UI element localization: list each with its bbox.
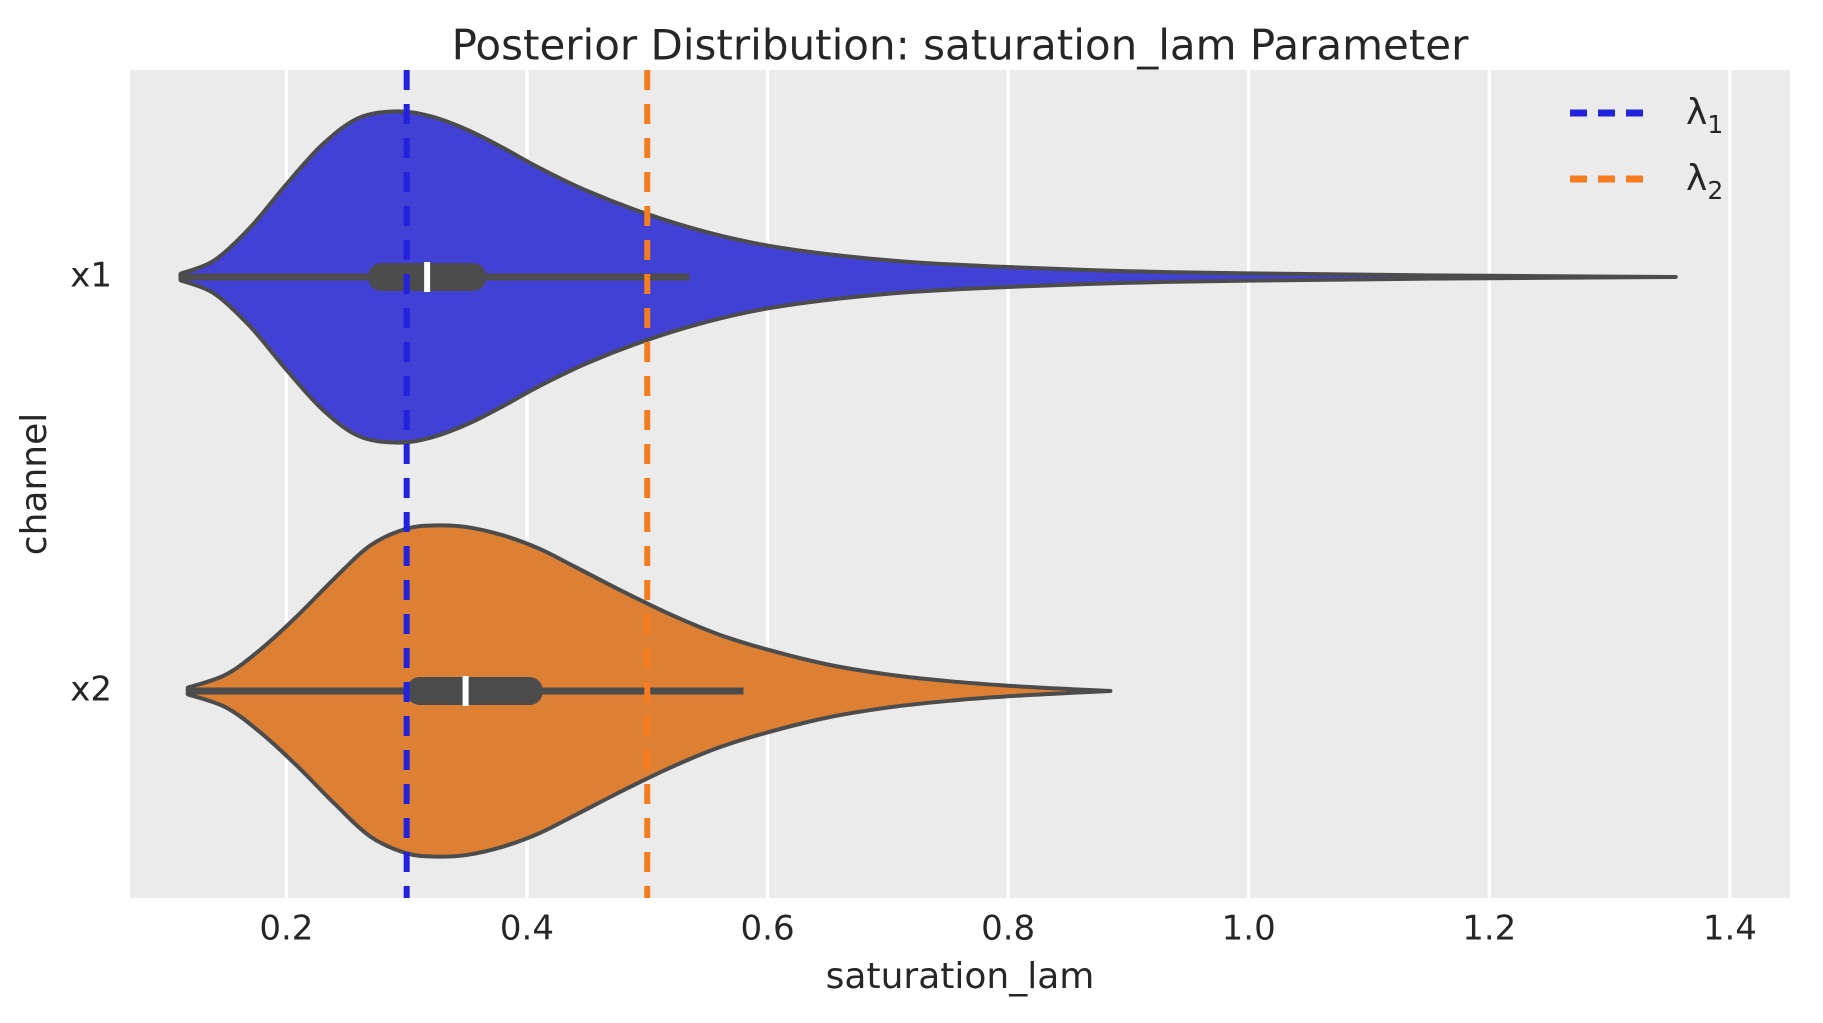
chart-title: Posterior Distribution: saturation_lam P… bbox=[452, 21, 1470, 70]
x-tick-label: 1.0 bbox=[1222, 909, 1276, 949]
figure-container: 0.20.40.60.81.01.21.4 x1x2 Posterior Dis… bbox=[0, 0, 1823, 1023]
y-tick-label-x1: x1 bbox=[70, 256, 112, 296]
x-tick-label: 0.8 bbox=[981, 909, 1035, 949]
x-tick-label: 1.2 bbox=[1462, 909, 1516, 949]
x-tick-label: 1.4 bbox=[1703, 909, 1757, 949]
y-tick-label-x2: x2 bbox=[70, 670, 112, 710]
x-axis-label: saturation_lam bbox=[826, 956, 1095, 997]
iqr-box bbox=[407, 677, 543, 705]
x-tick-label: 0.2 bbox=[259, 909, 313, 949]
violin-chart: 0.20.40.60.81.01.21.4 x1x2 Posterior Dis… bbox=[0, 0, 1823, 1023]
y-axis-label: channel bbox=[14, 413, 55, 555]
x-tick-label: 0.4 bbox=[500, 909, 554, 949]
x-tick-label: 0.6 bbox=[741, 909, 795, 949]
